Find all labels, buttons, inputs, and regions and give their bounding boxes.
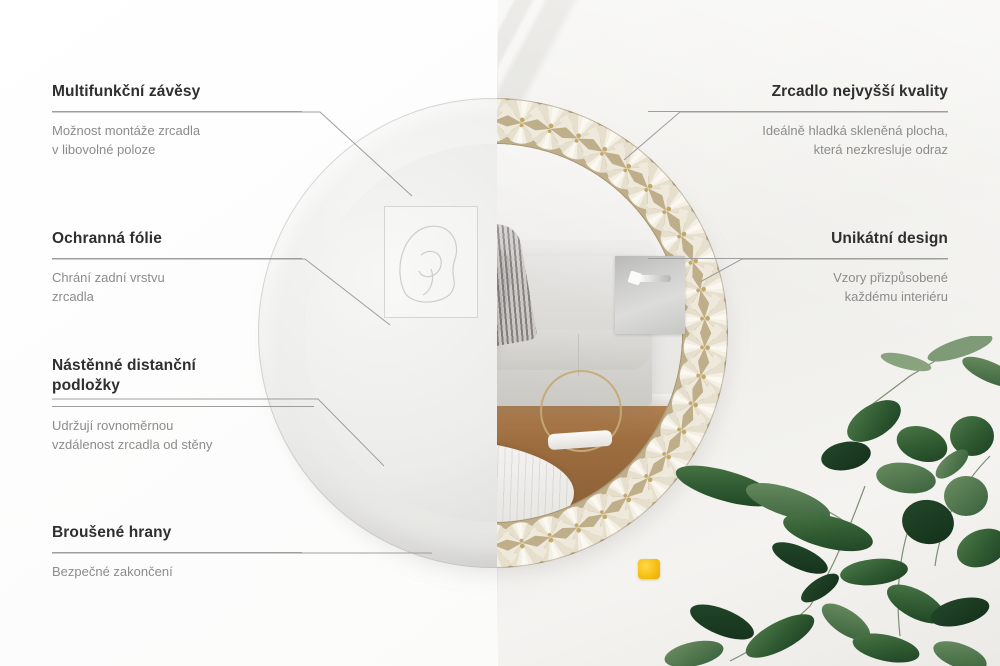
mirror-product xyxy=(258,98,728,568)
feature-hangers-desc: Možnost montáže zrcadla v libovolné polo… xyxy=(52,122,302,160)
feature-hangers-title: Multifunkční závěsy xyxy=(52,82,302,102)
feature-quality: Zrcadlo nejvyšší kvality Ideálně hladká … xyxy=(648,82,948,160)
mirror-back-glass-area xyxy=(304,144,497,522)
feature-quality-desc: Ideálně hladká skleněná plocha, která ne… xyxy=(648,122,948,160)
feature-foil-desc: Chrání zadní vrstvu zrcadla xyxy=(52,269,302,307)
feature-edges-desc: Bezpečné zakončení xyxy=(52,563,302,582)
feature-foil-rule xyxy=(52,258,302,259)
feature-edges-title: Broušené hrany xyxy=(52,523,302,543)
plant-leaves xyxy=(662,336,1000,666)
line-art-face-icon xyxy=(385,207,477,317)
feature-design-rule xyxy=(648,258,948,259)
framed-line-art-back xyxy=(384,206,478,318)
infographic-canvas: Multifunkční závěsy Možnost montáže zrca… xyxy=(0,0,1000,666)
feature-hangers-rule xyxy=(52,111,302,112)
feature-hangers: Multifunkční závěsy Možnost montáže zrca… xyxy=(52,82,302,160)
plant-branch-foreground xyxy=(660,336,1000,666)
feature-design: Unikátní design Vzory přizpůsobené každé… xyxy=(648,229,948,307)
feature-spacers-rule xyxy=(52,406,314,407)
feature-edges-rule xyxy=(52,552,302,553)
feature-spacers-title: Nástěnné distanční podložky xyxy=(52,356,314,397)
feature-spacers: Nástěnné distanční podložky Udržují rovn… xyxy=(52,356,314,455)
feature-foil-title: Ochranná fólie xyxy=(52,229,302,249)
feature-foil: Ochranná fólie Chrání zadní vrstvu zrcad… xyxy=(52,229,302,307)
feature-spacers-desc: Udržují rovnoměrnou vzdálenost zrcadla o… xyxy=(52,417,314,455)
spacer-pad xyxy=(638,559,660,579)
feature-quality-title: Zrcadlo nejvyšší kvality xyxy=(648,82,948,102)
feature-design-desc: Vzory přizpůsobené každému interiéru xyxy=(648,269,948,307)
feature-quality-rule xyxy=(648,111,948,112)
feature-edges: Broušené hrany Bezpečné zakončení xyxy=(52,523,302,582)
feature-design-title: Unikátní design xyxy=(648,229,948,249)
